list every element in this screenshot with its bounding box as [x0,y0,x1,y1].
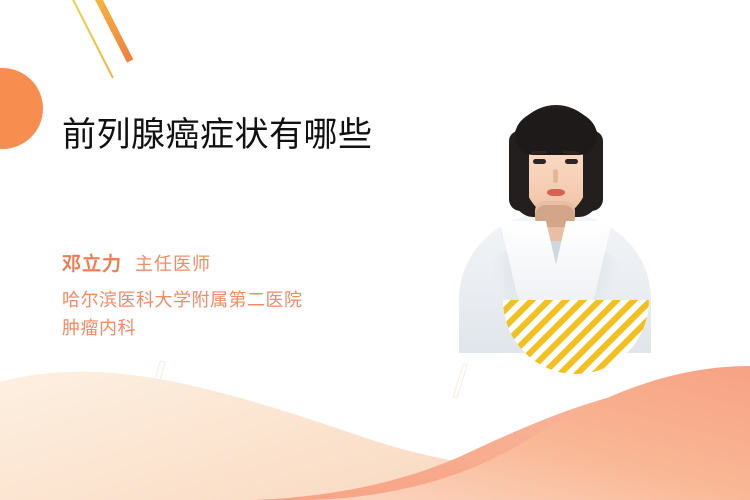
portrait-hair-fringe [515,109,597,155]
hairline-stroke-decoration [147,360,165,406]
doctor-professional-title: 主任医师 [135,250,211,276]
doctor-byline: 邓立力 主任医师 [62,249,211,276]
diagonal-orange-stroke-decoration [88,0,133,63]
wave-salmon-main [300,366,750,500]
orange-circle-decoration [0,68,43,149]
health-article-cover-card: 前列腺癌症状有哪些 邓立力 主任医师 哈尔滨医科大学附属第二医院 肿瘤内科 [0,0,750,500]
doctor-name: 邓立力 [62,249,122,276]
page-title: 前列腺癌症状有哪些 [62,116,412,154]
wave-cream [0,372,750,500]
doctor-affiliation: 哈尔滨医科大学附属第二医院 肿瘤内科 [62,286,303,342]
portrait-mouth [547,189,565,196]
portrait-nose [553,169,558,183]
hairline-stroke-decoration [452,363,467,399]
portrait-eye-left [533,159,546,164]
wave-salmon-lower [256,378,750,500]
portrait-eye-right [565,159,578,164]
